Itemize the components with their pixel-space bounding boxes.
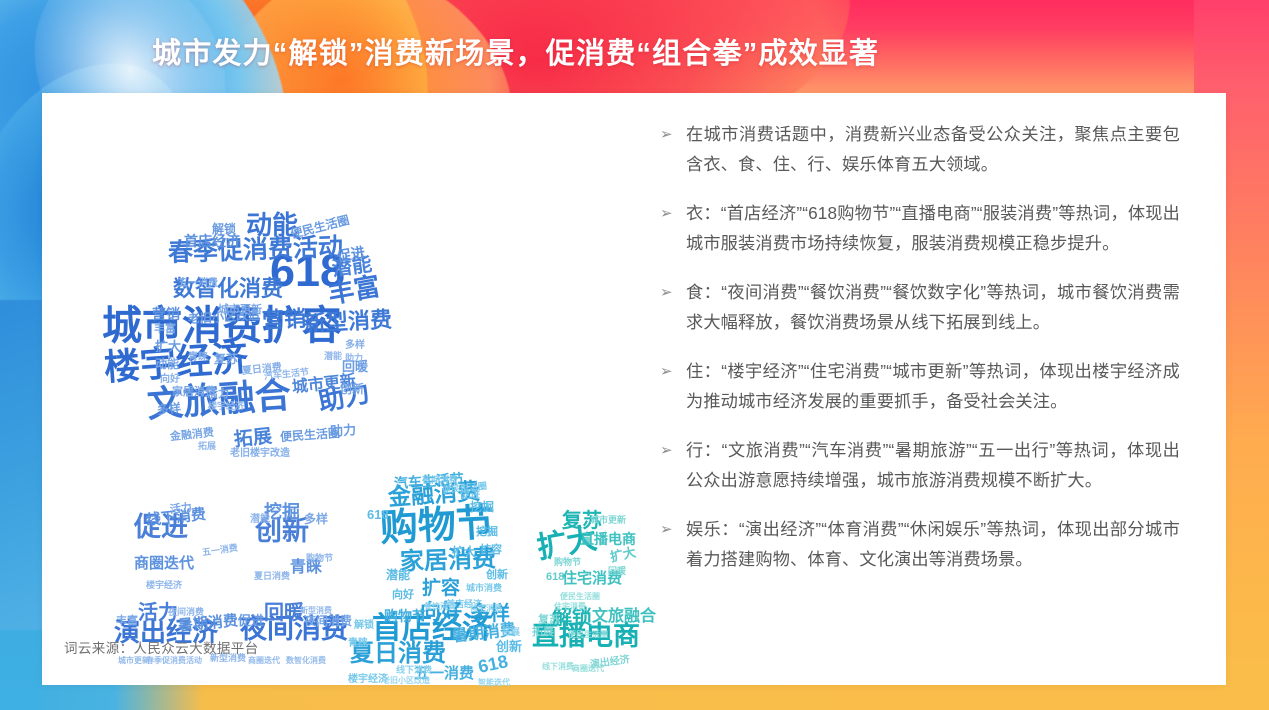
bullet-item-entertainment: ➢娱乐：“演出经济”“体育消费”“休闲娱乐”等热词，体现出部分城市着力搭建购物、… bbox=[660, 514, 1180, 574]
bullet-arrow-icon: ➢ bbox=[660, 356, 686, 386]
bullet-item-housing: ➢住：“楼宇经济”“住宅消费”“城市更新”等热词，体现出楼宇经济成为推动城市经济… bbox=[660, 356, 1180, 416]
bullet-item-food: ➢食：“夜间消费”“餐饮消费”“餐饮数字化”等热词，城市餐饮消费需求大幅释放，餐… bbox=[660, 277, 1180, 337]
wordcloud-word: 拓展 bbox=[532, 627, 554, 638]
bullet-text: 娱乐：“演出经济”“体育消费”“休闲娱乐”等热词，体现出部分城市着力搭建购物、体… bbox=[686, 514, 1180, 574]
bullet-arrow-icon: ➢ bbox=[660, 198, 686, 228]
wordcloud-word: 春季促消费活动 bbox=[146, 657, 202, 665]
bullet-item-overview: ➢在城市消费话题中，消费新兴业态备受公众关注，聚焦点主要包含衣、食、住、行、娱乐… bbox=[660, 119, 1180, 179]
wordcloud-word: 618 bbox=[476, 652, 509, 676]
wordcloud-word: 线下消费 bbox=[396, 666, 432, 675]
title-bar: 城市发力“解锁”消费新场景，促消费“组合拳”成效显著 bbox=[0, 28, 1080, 80]
bullet-arrow-icon: ➢ bbox=[660, 514, 686, 544]
wordcloud-word: 创新 bbox=[496, 640, 522, 653]
wordcloud-word: 老旧小区改造 bbox=[382, 677, 430, 685]
wordcloud-word: 智能迭代 bbox=[478, 679, 510, 687]
wordcloud-word: 商圈迭代 bbox=[572, 665, 604, 673]
wordcloud-word: 线下消费 bbox=[542, 663, 574, 671]
left-blue-band bbox=[0, 0, 42, 710]
wordcloud: 城市消费扩容楼宇经济文旅融合618春季促消费活动数智化消费动能丰富潜能营销新型消… bbox=[42, 93, 642, 633]
slide-root: 城市发力“解锁”消费新场景，促消费“组合拳”成效显著 城市消费扩容楼宇经济文旅融… bbox=[0, 0, 1269, 710]
wordcloud-word: 商圈迭代 bbox=[248, 657, 280, 665]
wordcloud-word: 数智化消费 bbox=[286, 657, 326, 665]
wordcloud-word: 住宅消费 bbox=[554, 603, 586, 611]
bullet-text: 衣：“首店经济”“618购物节”“直播电商”“服装消费”等热词，体现出城市服装消… bbox=[686, 198, 1180, 258]
bullets-panel: ➢在城市消费话题中，消费新兴业态备受公众关注，聚焦点主要包含衣、食、住、行、娱乐… bbox=[642, 93, 1226, 685]
wordcloud-panel: 城市消费扩容楼宇经济文旅融合618春季促消费活动数智化消费动能丰富潜能营销新型消… bbox=[42, 93, 642, 685]
wordcloud-word: 青睐 bbox=[348, 639, 368, 649]
bullet-text: 住：“楼宇经济”“住宅消费”“城市更新”等热词，体现出楼宇经济成为推动城市经济发… bbox=[686, 356, 1180, 416]
content-card: 城市消费扩容楼宇经济文旅融合618春季促消费活动数智化消费动能丰富潜能营销新型消… bbox=[42, 93, 1226, 685]
page-title: 城市发力“解锁”消费新场景，促消费“组合拳”成效显著 bbox=[152, 40, 879, 69]
bullet-text: 在城市消费话题中，消费新兴业态备受公众关注，聚焦点主要包含衣、食、住、行、娱乐体… bbox=[686, 119, 1180, 179]
bullet-text: 行：“文旅消费”“汽车消费”“暑期旅游”“五一出行”等热词，体现出公众出游意愿持… bbox=[686, 435, 1180, 495]
bullet-arrow-icon: ➢ bbox=[660, 119, 686, 149]
wordcloud-cluster-livestream-cluster: 直播电商解锁文旅融合复苏拓展演出经济便民生活圈线下消费商圈迭代住宅消费 bbox=[42, 93, 642, 633]
wordcloud-source-note: 词云来源：人民众云大数据平台 bbox=[64, 637, 259, 657]
bullet-item-travel: ➢行：“文旅消费”“汽车消费”“暑期旅游”“五一出行”等热词，体现出公众出游意愿… bbox=[660, 435, 1180, 495]
bullet-arrow-icon: ➢ bbox=[660, 277, 686, 307]
wordcloud-word: 便民生活圈 bbox=[568, 631, 608, 639]
wordcloud-word: 复苏 bbox=[538, 615, 560, 626]
bullet-arrow-icon: ➢ bbox=[660, 435, 686, 465]
bullet-text: 食：“夜间消费”“餐饮消费”“餐饮数字化”等热词，城市餐饮消费需求大幅释放，餐饮… bbox=[686, 277, 1180, 337]
bullet-item-clothing: ➢衣：“首店经济”“618购物节”“直播电商”“服装消费”等热词，体现出城市服装… bbox=[660, 198, 1180, 258]
